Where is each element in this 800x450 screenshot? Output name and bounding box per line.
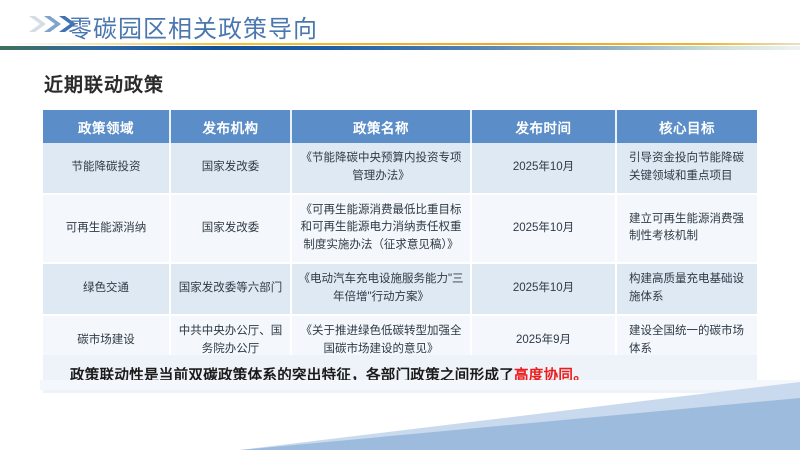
cell-core-goal: 引导资金投向节能降碳关键领域和重点项目 [616, 143, 757, 194]
column-header-agency: 发布机构 [170, 110, 291, 143]
table-row: 绿色交通 国家发改委等六部门 《电动汽车充电设施服务能力"三年倍增"行动方案》 … [43, 263, 757, 315]
table-body: 节能降碳投资 国家发改委 《节能降碳中央预算内投资专项管理办法》 2025年10… [43, 143, 757, 366]
cell-policy-field: 绿色交通 [43, 263, 170, 315]
cell-policy-name: 《节能降碳中央预算内投资专项管理办法》 [291, 143, 471, 194]
cell-agency: 国家发改委等六部门 [170, 263, 291, 315]
cell-policy-field: 可再生能源消纳 [43, 194, 170, 263]
policy-table-container: 政策领域 发布机构 政策名称 发布时间 核心目标 节能降碳投资 国家发改委 《节… [43, 110, 757, 367]
table-header-row: 政策领域 发布机构 政策名称 发布时间 核心目标 [43, 110, 757, 143]
cell-core-goal: 构建高质量充电基础设施体系 [616, 263, 757, 315]
cell-policy-name: 《可再生能源消费最低比重目标和可再生能源电力消纳责任权重制度实施办法（征求意见稿… [291, 194, 471, 263]
cell-policy-name: 《电动汽车充电设施服务能力"三年倍增"行动方案》 [291, 263, 471, 315]
cell-release-date: 2025年10月 [471, 194, 616, 263]
policy-table: 政策领域 发布机构 政策名称 发布时间 核心目标 节能降碳投资 国家发改委 《节… [43, 110, 757, 367]
slide-header: 零碳园区相关政策导向 [0, 0, 800, 50]
cell-policy-field: 节能降碳投资 [43, 143, 170, 194]
column-header-policy-name: 政策名称 [291, 110, 471, 143]
cell-agency: 国家发改委 [170, 194, 291, 263]
summary-note-highlight: 高度协同。 [514, 368, 588, 384]
slide: 零碳园区相关政策导向 近期联动政策 政策领域 发布机构 政策名称 发布时间 核心… [0, 0, 800, 450]
table-row: 可再生能源消纳 国家发改委 《可再生能源消费最低比重目标和可再生能源电力消纳责任… [43, 194, 757, 263]
page-title: 零碳园区相关政策导向 [68, 9, 318, 44]
header-accent-rule [0, 43, 800, 45]
cell-agency: 国家发改委 [170, 143, 291, 194]
table-row: 节能降碳投资 国家发改委 《节能降碳中央预算内投资专项管理办法》 2025年10… [43, 143, 757, 194]
section-title: 近期联动政策 [44, 70, 164, 97]
cell-core-goal: 建立可再生能源消费强制性考核机制 [616, 194, 757, 263]
cell-release-date: 2025年10月 [471, 263, 616, 315]
summary-note-body: 政策联动性是当前双碳政策体系的突出特征，各部门政策之间形成了 [70, 368, 514, 384]
column-header-policy-field: 政策领域 [43, 110, 170, 143]
table-header: 政策领域 发布机构 政策名称 发布时间 核心目标 [43, 110, 757, 143]
column-header-release-date: 发布时间 [471, 110, 616, 143]
column-header-core-goal: 核心目标 [616, 110, 757, 143]
summary-note: 政策联动性是当前双碳政策体系的突出特征，各部门政策之间形成了高度协同。 [43, 355, 757, 393]
header-gradient-rule [0, 46, 800, 50]
cell-release-date: 2025年10月 [471, 143, 616, 194]
summary-note-text: 政策联动性是当前双碳政策体系的突出特征，各部门政策之间形成了高度协同。 [43, 364, 588, 385]
